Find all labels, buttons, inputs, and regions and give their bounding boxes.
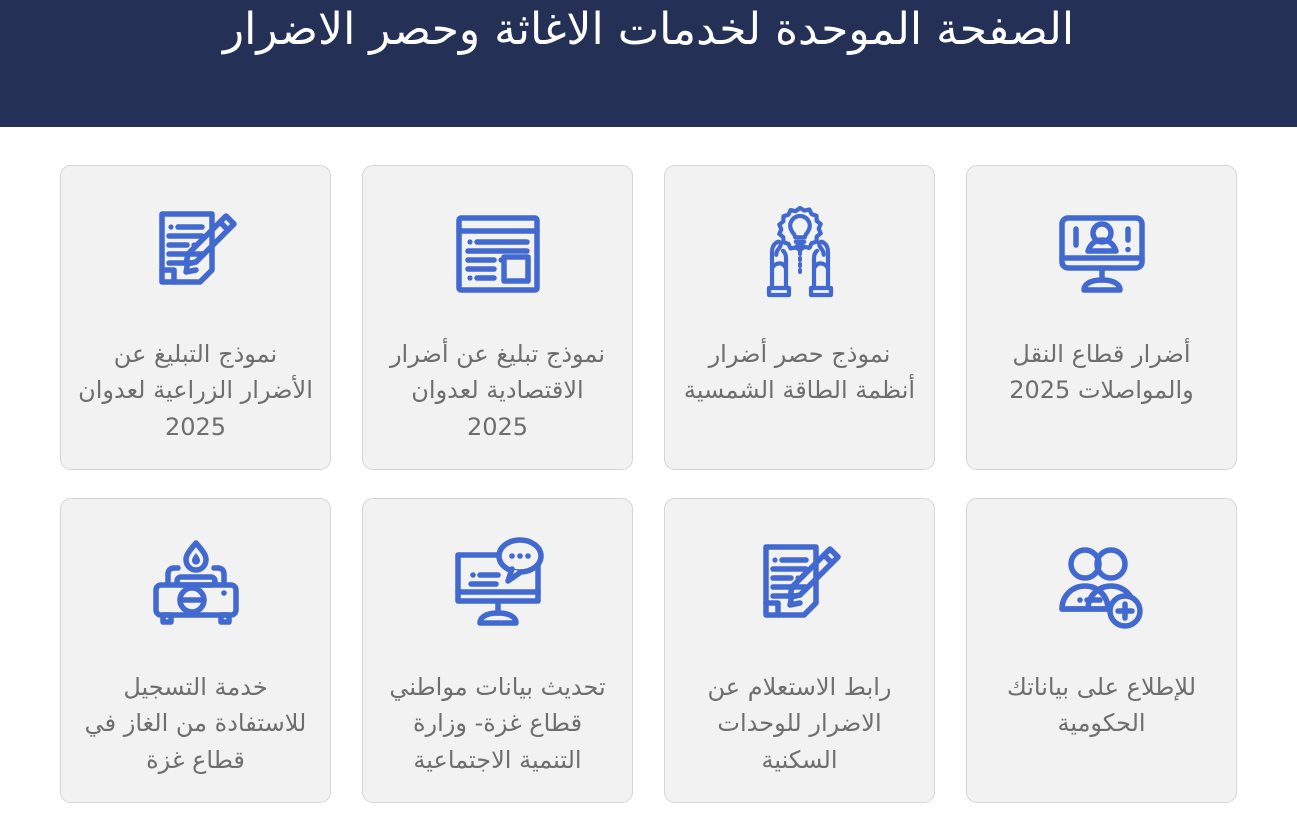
service-card-solar-energy-damages[interactable]: نموذج حصر أضرار أنظمة الطاقة الشمسية [664, 165, 935, 470]
service-card-housing-units-inquiry[interactable]: رابط الاستعلام عن الاضرار للوحدات السكني… [664, 498, 935, 803]
service-card-government-data[interactable]: للإطلاع على بياناتك الحكومية [966, 498, 1237, 803]
service-card-label: نموذج حصر أضرار أنظمة الطاقة الشمسية [681, 336, 918, 409]
service-card-label: نموذج التبليغ عن الأضرار الزراعية لعدوان… [77, 336, 314, 445]
service-card-label: رابط الاستعلام عن الاضرار للوحدات السكني… [681, 669, 918, 778]
page-title: الصفحة الموحدة لخدمات الاغاثة وحصر الاضر… [223, 4, 1074, 56]
service-card-gas-registration[interactable]: خدمة التسجيل للاستفادة من الغاز في قطاع … [60, 498, 331, 803]
service-card-update-citizen-data[interactable]: تحديث بيانات مواطني قطاع غزة- وزارة التن… [362, 498, 633, 803]
service-card-label: تحديث بيانات مواطني قطاع غزة- وزارة التن… [379, 669, 616, 778]
document-pencil-icon [144, 202, 248, 306]
service-card-agricultural-damages[interactable]: نموذج التبليغ عن الأضرار الزراعية لعدوان… [60, 165, 331, 470]
monitor-person-alert-icon [1050, 202, 1154, 306]
service-card-transport-damages[interactable]: أضرار قطاع النقل والمواصلات 2025 [966, 165, 1237, 470]
document-pencil-icon [748, 535, 852, 639]
service-card-label: نموذج تبليغ عن أضرار الاقتصادية لعدوان 2… [379, 336, 616, 445]
gas-stove-icon [144, 535, 248, 639]
service-card-label: أضرار قطاع النقل والمواصلات 2025 [983, 336, 1220, 409]
service-card-label: للإطلاع على بياناتك الحكومية [983, 669, 1220, 742]
service-card-economic-damages[interactable]: نموذج تبليغ عن أضرار الاقتصادية لعدوان 2… [362, 165, 633, 470]
services-grid: أضرار قطاع النقل والمواصلات 2025 [0, 127, 1297, 803]
lightbulb-gear-hands-icon [748, 202, 852, 306]
monitor-chat-icon [446, 535, 550, 639]
article-layout-icon [446, 202, 550, 306]
add-user-group-icon [1050, 535, 1154, 639]
page-header: الصفحة الموحدة لخدمات الاغاثة وحصر الاضر… [0, 0, 1297, 127]
service-card-label: خدمة التسجيل للاستفادة من الغاز في قطاع … [77, 669, 314, 778]
